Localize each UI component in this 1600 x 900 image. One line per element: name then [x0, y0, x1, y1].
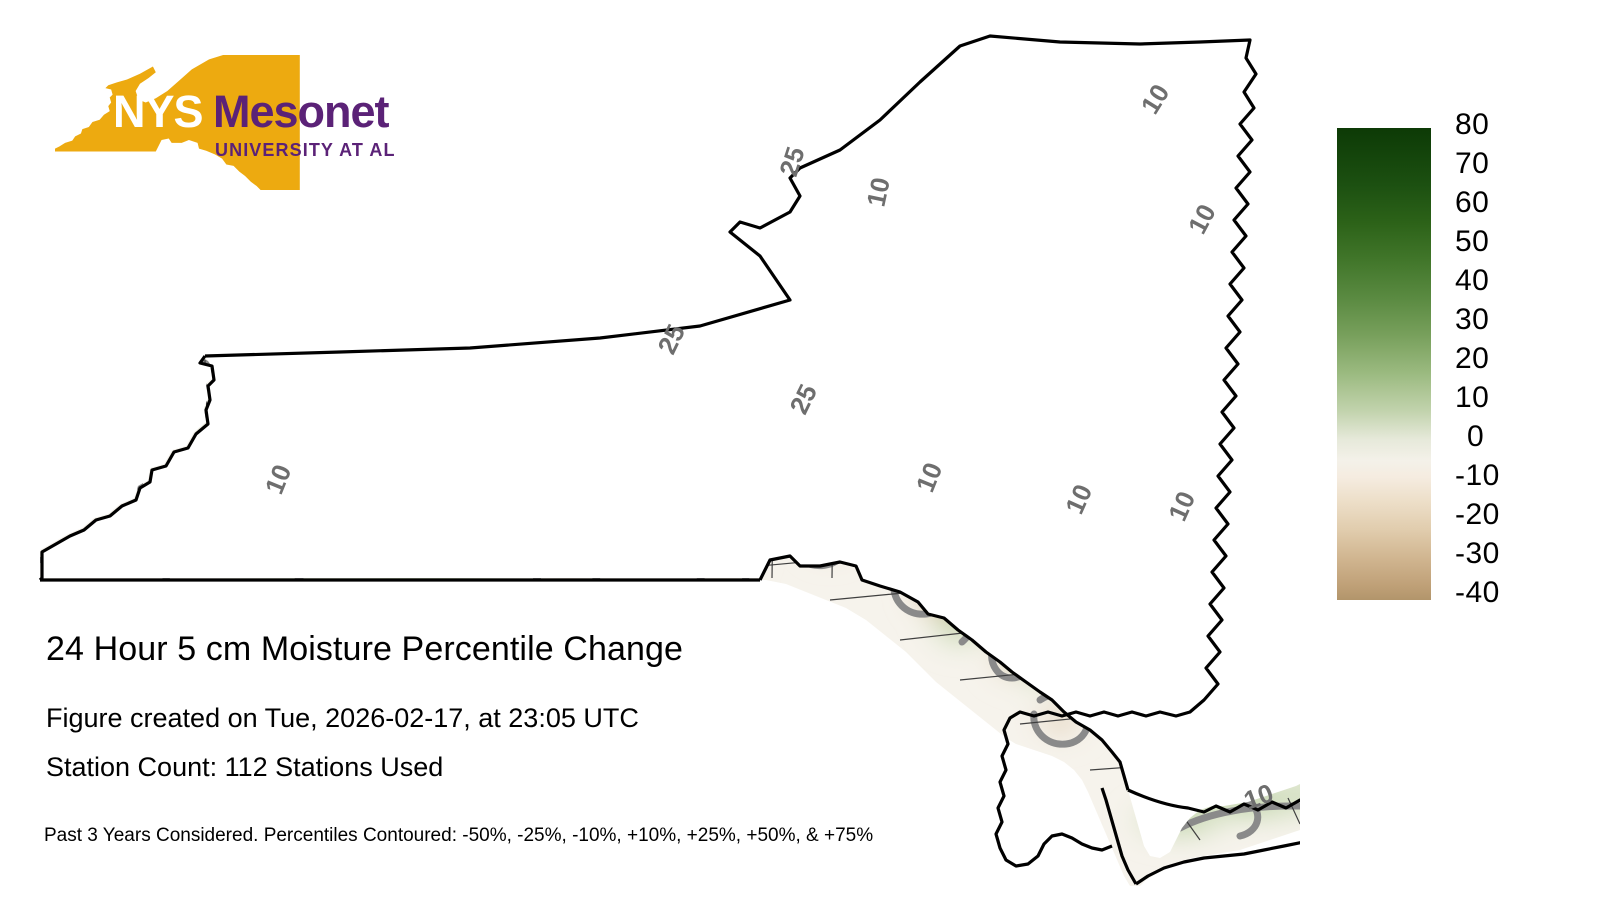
logo-mesonet-text: Mesonet	[213, 86, 390, 137]
colorbar-tick: 50	[1455, 227, 1489, 257]
colorbar-tick: 70	[1455, 149, 1489, 179]
contour-label: 10	[1135, 79, 1176, 119]
footnote: Past 3 Years Considered. Percentiles Con…	[44, 825, 873, 847]
colorbar-tick: 30	[1455, 305, 1489, 335]
contour-label: 25	[783, 379, 823, 418]
colorbar-tick: -10	[1455, 461, 1500, 491]
moisture-percentile-colorbar: 80 70 60 50 40 30 20 10 0 -10 -20 -30 -4…	[1337, 128, 1497, 603]
colorbar-tick: 0	[1467, 422, 1484, 452]
nys-mesonet-logo: NYS Mesonet UNIVERSITY AT ALBANY	[55, 55, 395, 190]
colorbar-tick: 80	[1455, 110, 1489, 140]
contour-label: 10	[1182, 199, 1222, 239]
creation-time: Figure created on Tue, 2026-02-17, at 23…	[46, 703, 639, 734]
contour-label: 25	[773, 143, 810, 180]
contour-label: 10	[259, 460, 298, 498]
logo-tagline: UNIVERSITY AT ALBANY	[215, 140, 395, 160]
colorbar-tick: -40	[1455, 578, 1500, 608]
page-title: 24 Hour 5 cm Moisture Percentile Change	[46, 630, 683, 669]
colorbar-gradient	[1337, 128, 1431, 600]
colorbar-tick: 20	[1455, 344, 1489, 374]
colorbar-tick: 60	[1455, 188, 1489, 218]
colorbar-tick: -30	[1455, 539, 1500, 569]
colorbar-tick: 40	[1455, 266, 1489, 296]
contour-label: 10	[910, 458, 949, 496]
contour-label: 10	[861, 175, 896, 210]
colorbar-tick: 10	[1455, 383, 1489, 413]
contour-label: 25	[651, 319, 691, 358]
station-count: Station Count: 112 Stations Used	[46, 752, 443, 783]
logo-nys-text: NYS	[113, 86, 203, 137]
contour-label: 10	[1162, 487, 1201, 526]
colorbar-tick-labels: 80 70 60 50 40 30 20 10 0 -10 -20 -30 -4…	[1455, 110, 1575, 610]
colorbar-tick: -20	[1455, 500, 1500, 530]
contour-label: 10	[1059, 480, 1098, 519]
